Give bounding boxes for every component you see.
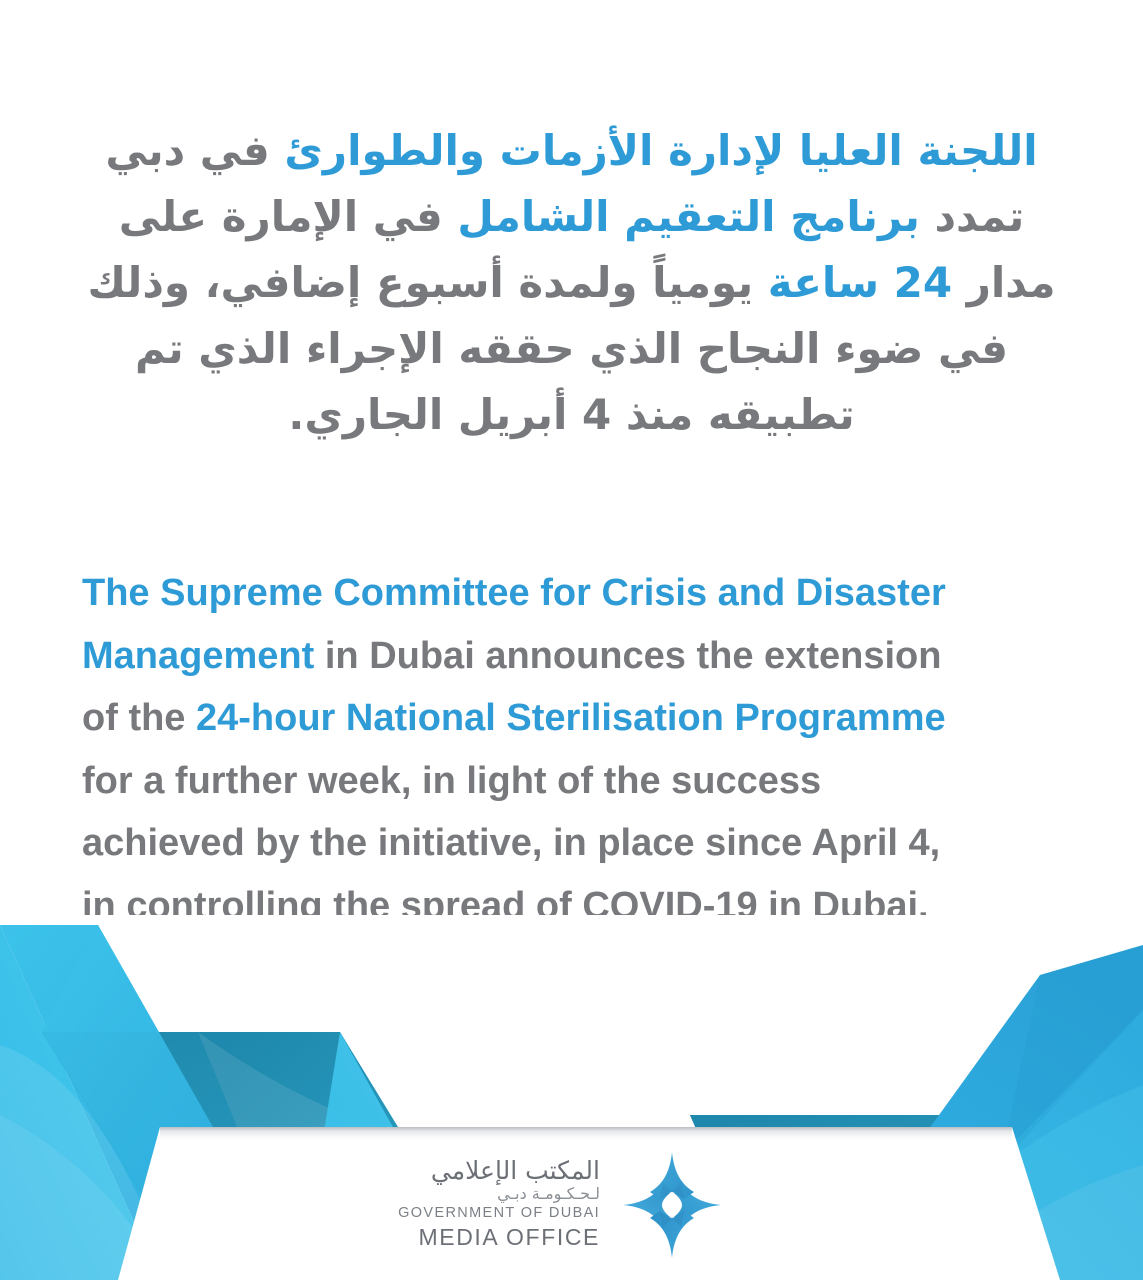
arabic-line-2-segment-3: في الإمارة على — [119, 192, 458, 241]
arabic-line-1: اللجنة العليا لإدارة الأزمات والطوارئ في… — [82, 118, 1061, 184]
english-line-2-word-6: extension — [764, 635, 941, 677]
arabic-line-2: تمدد برنامج التعقيم الشامل في الإمارة عل… — [82, 184, 1061, 250]
dubai-media-office-logo: المكتب الإعلامي لـحـكـومـة دبـي GOVERNME… — [398, 1147, 728, 1262]
arabic-line-3-segment-1: مدار — [952, 258, 1055, 307]
english-line-1-word-4: for — [540, 572, 591, 614]
english-line-4-word-2: a — [143, 760, 164, 802]
arabic-announcement-text: اللجنة العليا لإدارة الأزمات والطوارئ في… — [82, 118, 1061, 448]
english-line-5-word-2: by — [255, 822, 299, 864]
english-line-2: Management in Dubai announces the extens… — [82, 625, 1054, 688]
english-line-4: for a further week, in light of the succ… — [82, 750, 1054, 813]
logo-english-line-1: GOVERNMENT OF DUBAI — [398, 1204, 600, 1223]
english-line-1-word-6: and — [718, 572, 786, 614]
logo-english-line-2: MEDIA OFFICE — [398, 1223, 600, 1252]
english-line-3-word-6: Programme — [734, 697, 945, 739]
english-line-5-word-5: in — [553, 822, 587, 864]
english-line-2-word-5: the — [696, 635, 753, 677]
english-line-2-word-2: in — [325, 635, 359, 677]
english-line-4-word-5: in — [422, 760, 456, 802]
english-line-5-word-8: April — [811, 822, 898, 864]
english-line-1-word-1: The — [82, 572, 150, 614]
english-line-5-word-7: since — [705, 822, 802, 864]
arabic-line-1-segment-1: اللجنة العليا لإدارة الأزمات والطوارئ — [284, 126, 1037, 175]
english-line-4-word-9: success — [671, 760, 821, 802]
english-line-1: The Supreme Committee for Crisis and Dis… — [82, 562, 1054, 625]
english-line-4-word-6: light — [466, 760, 546, 802]
arabic-line-2-segment-2: برنامج التعقيم الشامل — [457, 192, 919, 241]
english-line-4-word-4: week, — [308, 760, 412, 802]
english-line-1-word-5: Crisis — [601, 572, 707, 614]
english-line-3-word-5: Sterilisation — [506, 697, 724, 739]
english-line-5-word-9: 4, — [909, 822, 941, 864]
english-line-3-word-3: 24-hour — [196, 697, 335, 739]
english-line-3-word-4: National — [346, 697, 496, 739]
english-line-5: achieved by the initiative, in place sin… — [82, 812, 1054, 875]
diamond-star-icon — [620, 1149, 724, 1261]
english-line-5-word-6: place — [597, 822, 694, 864]
arabic-line-3: مدار 24 ساعة يومياً ولمدة أسبوع إضافي، و… — [82, 250, 1061, 316]
arabic-line-3-segment-2: 24 ساعة — [768, 258, 952, 307]
english-line-2-word-3: Dubai — [369, 635, 475, 677]
english-line-1-word-2: Supreme — [160, 572, 323, 614]
arabic-line-1-segment-2: في دبي — [105, 126, 284, 175]
poster-canvas: اللجنة العليا لإدارة الأزمات والطوارئ في… — [0, 0, 1143, 1280]
english-line-2-word-1: Management — [82, 635, 314, 677]
english-line-1-word-3: Committee — [333, 572, 529, 614]
arabic-line-4: في ضوء النجاح الذي حققه الإجراء الذي تم — [82, 316, 1061, 382]
english-announcement-text: The Supreme Committee for Crisis and Dis… — [82, 562, 1054, 937]
english-line-3: of the 24-hour National Sterilisation Pr… — [82, 687, 1054, 750]
english-line-5-word-1: achieved — [82, 822, 245, 864]
english-line-4-word-8: the — [604, 760, 661, 802]
english-line-3-word-1: of — [82, 697, 118, 739]
english-line-1-word-7: Disaster — [796, 572, 946, 614]
english-line-4-word-1: for — [82, 760, 133, 802]
arabic-line-3-segment-3: يومياً ولمدة أسبوع إضافي، وذلك — [87, 258, 767, 307]
arabic-line-4-segment-1: في ضوء النجاح الذي حققه الإجراء الذي تم — [135, 324, 1008, 373]
logo-arabic-line-2: لـحـكـومـة دبـي — [398, 1184, 600, 1204]
arabic-line-5: تطبيقه منذ 4 أبريل الجاري. — [82, 382, 1061, 448]
logo-arabic-line-1: المكتب الإعلامي — [398, 1157, 600, 1184]
english-line-4-word-3: further — [175, 760, 297, 802]
english-line-2-word-4: announces — [485, 635, 686, 677]
english-line-3-word-2: the — [128, 697, 185, 739]
arabic-line-5-segment-1: تطبيقه منذ 4 أبريل الجاري. — [288, 390, 854, 439]
arabic-line-2-segment-1: تمدد — [920, 192, 1024, 241]
english-line-5-word-3: the — [310, 822, 367, 864]
english-line-4-word-7: of — [557, 760, 593, 802]
english-line-5-word-4: initiative, — [378, 822, 543, 864]
logo-wordmark: المكتب الإعلامي لـحـكـومـة دبـي GOVERNME… — [398, 1157, 606, 1252]
